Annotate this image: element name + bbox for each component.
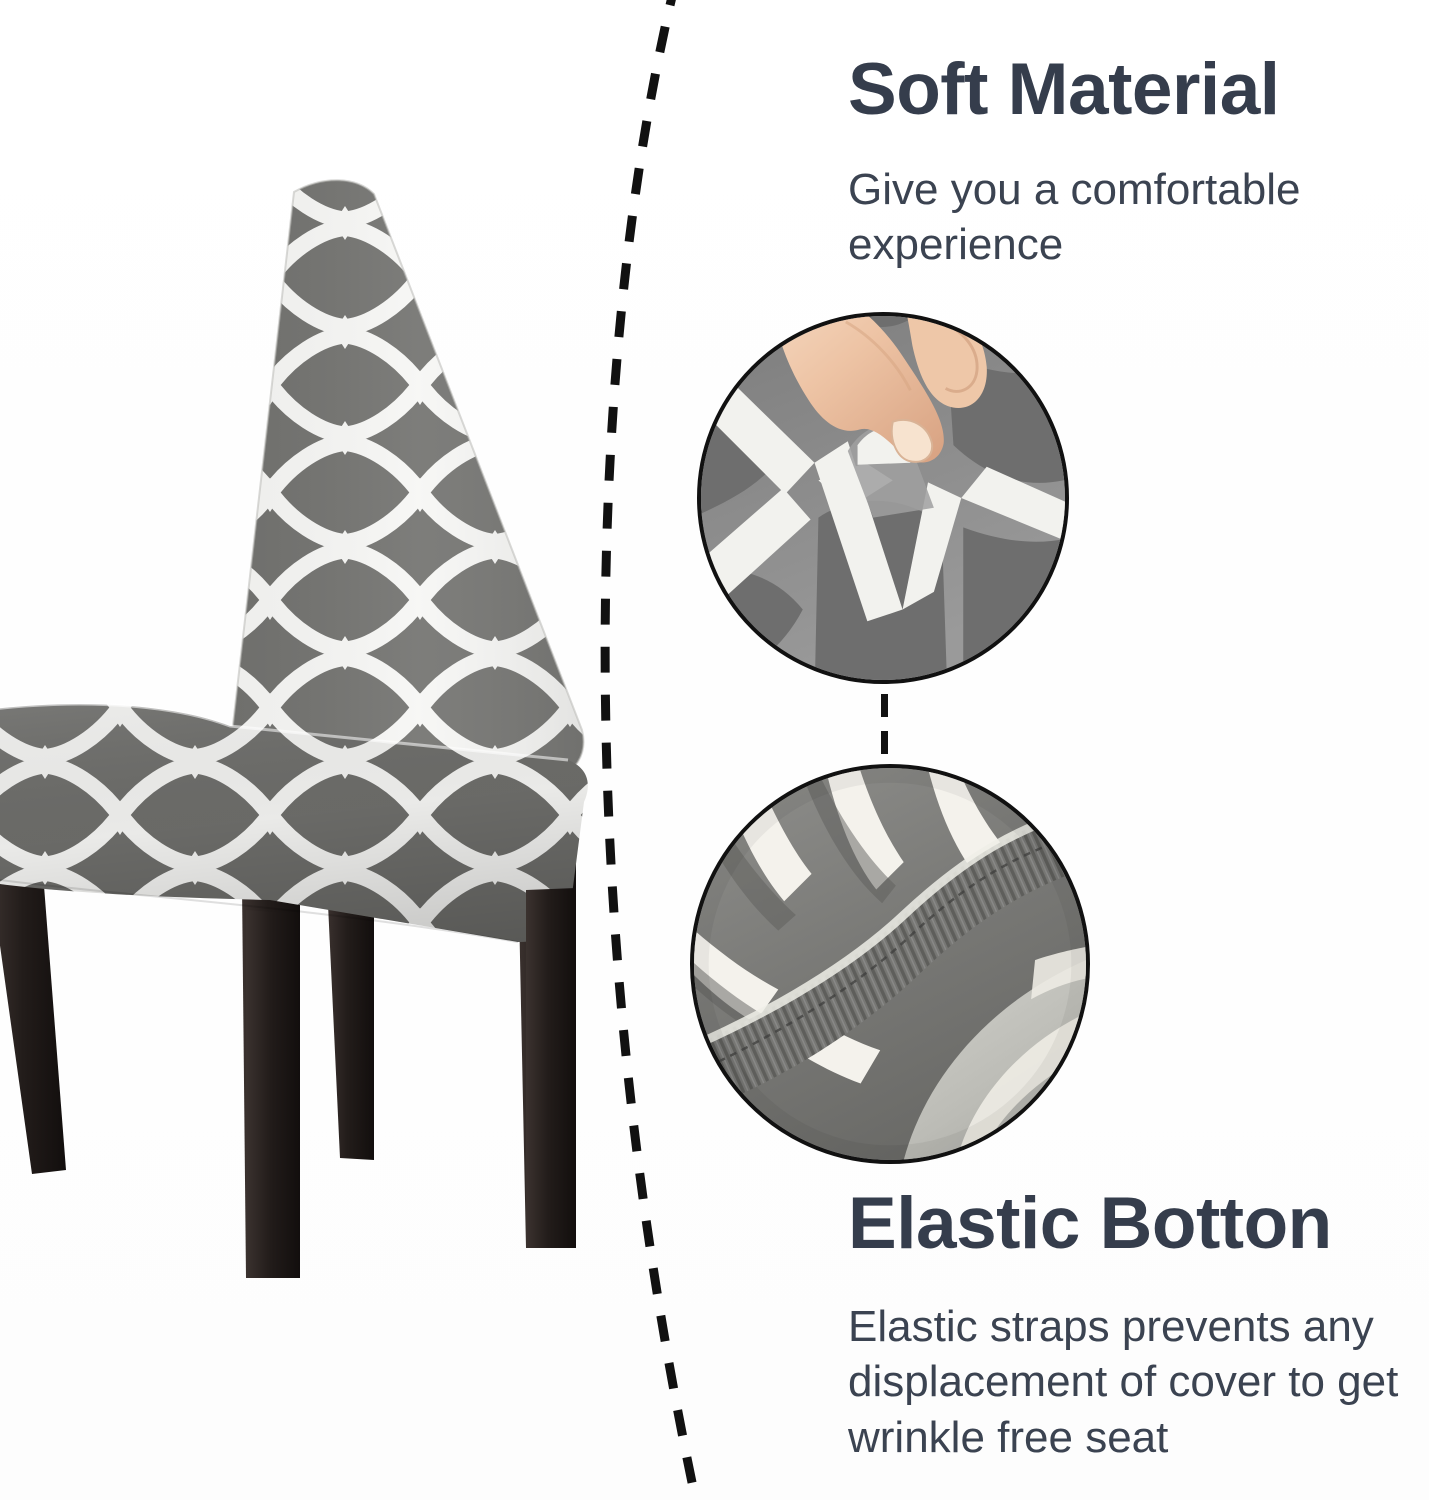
callout-fabric-stretch [697,312,1069,684]
soft-material-body: Give you a comfortable experience [848,162,1428,273]
elastic-botton-heading: Elastic Botton [848,1186,1428,1263]
soft-material-heading: Soft Material [848,52,1428,129]
infographic-canvas: Soft Material Give you a comfortable exp… [0,0,1429,1500]
chair-leg-tips [246,888,576,1278]
product-chair-image [0,170,630,1300]
elastic-botton-body: Elastic straps prevents any displacement… [848,1299,1428,1465]
feature-block-elastic-botton: Elastic Botton Elastic straps prevents a… [848,1186,1428,1465]
callout-elastic-hem [690,764,1090,1164]
feature-block-soft-material: Soft Material Give you a comfortable exp… [848,52,1428,273]
callout-connector-dashes [881,694,888,760]
